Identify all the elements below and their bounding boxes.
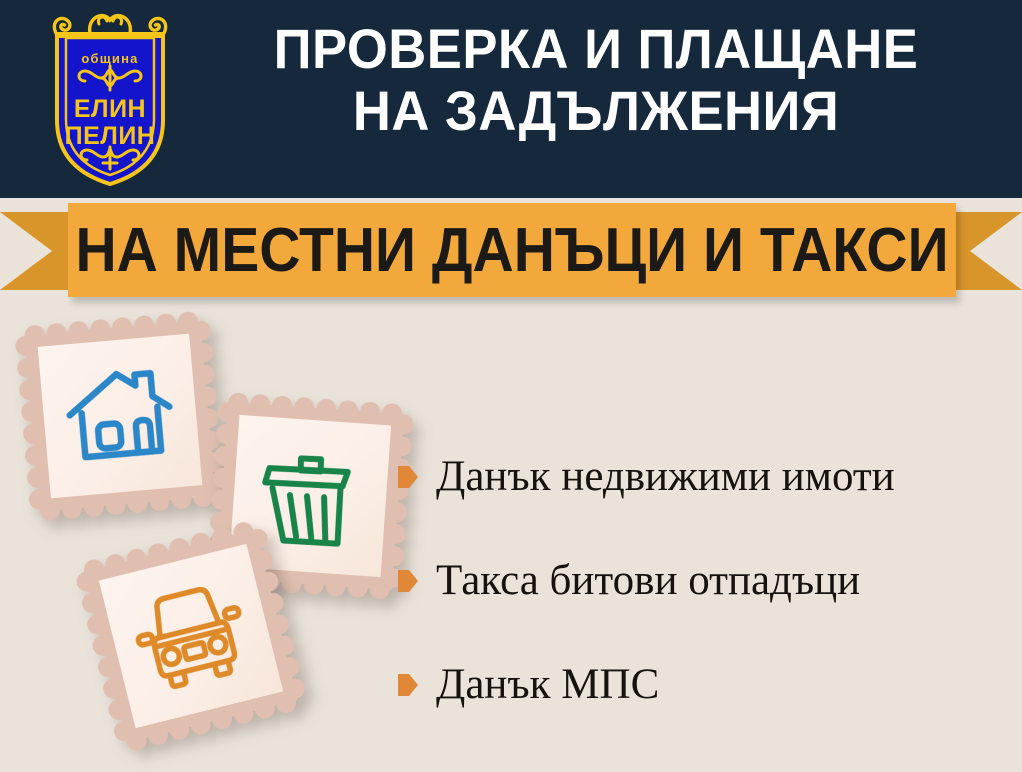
page-title-line2: НА ЗАДЪЛЖЕНИЯ xyxy=(214,80,977,142)
list-item[interactable]: Данък МПС xyxy=(398,633,998,737)
stamp-paper xyxy=(38,334,203,499)
svg-text:община: община xyxy=(81,51,138,66)
page-title-line1: ПРОВЕРКА И ПЛАЩАНЕ xyxy=(274,17,919,80)
stamp-card-house xyxy=(14,310,226,522)
list-item-label: Данък недвижими имоти xyxy=(436,454,895,499)
trash-bin-icon xyxy=(255,441,364,552)
arrow-bullet-icon xyxy=(398,674,418,696)
car-front-icon xyxy=(123,573,260,698)
svg-text:ЕЛИН: ЕЛИН xyxy=(74,95,146,123)
tax-type-list: Данък недвижими имоти Такса битови отпад… xyxy=(398,425,998,737)
list-item[interactable]: Такса битови отпадъци xyxy=(398,529,998,633)
poster-canvas: община ЕЛИН ПЕЛИН xyxy=(0,0,1022,772)
list-item-label: Такса битови отпадъци xyxy=(436,558,860,603)
list-item-label: Данък МПС xyxy=(436,662,659,707)
municipality-logo: община ЕЛИН ПЕЛИН xyxy=(35,8,185,188)
ribbon-text: НА МЕСТНИ ДАНЪЦИ И ТАКСИ xyxy=(104,203,921,297)
elin-pelin-municipality-coat-of-arms-icon: община ЕЛИН ПЕЛИН xyxy=(35,8,185,188)
ribbon-band: НА МЕСТНИ ДАНЪЦИ И ТАКСИ xyxy=(68,203,956,297)
subtitle-ribbon: НА МЕСТНИ ДАНЪЦИ И ТАКСИ xyxy=(0,200,1022,300)
header-banner: община ЕЛИН ПЕЛИН xyxy=(0,0,1022,198)
list-item[interactable]: Данък недвижими имоти xyxy=(398,425,998,529)
page-title: ПРОВЕРКА И ПЛАЩАНЕ НА ЗАДЪЛЖЕНИЯ xyxy=(214,18,977,142)
house-icon xyxy=(60,361,180,470)
arrow-bullet-icon xyxy=(398,466,418,488)
arrow-bullet-icon xyxy=(398,570,418,592)
